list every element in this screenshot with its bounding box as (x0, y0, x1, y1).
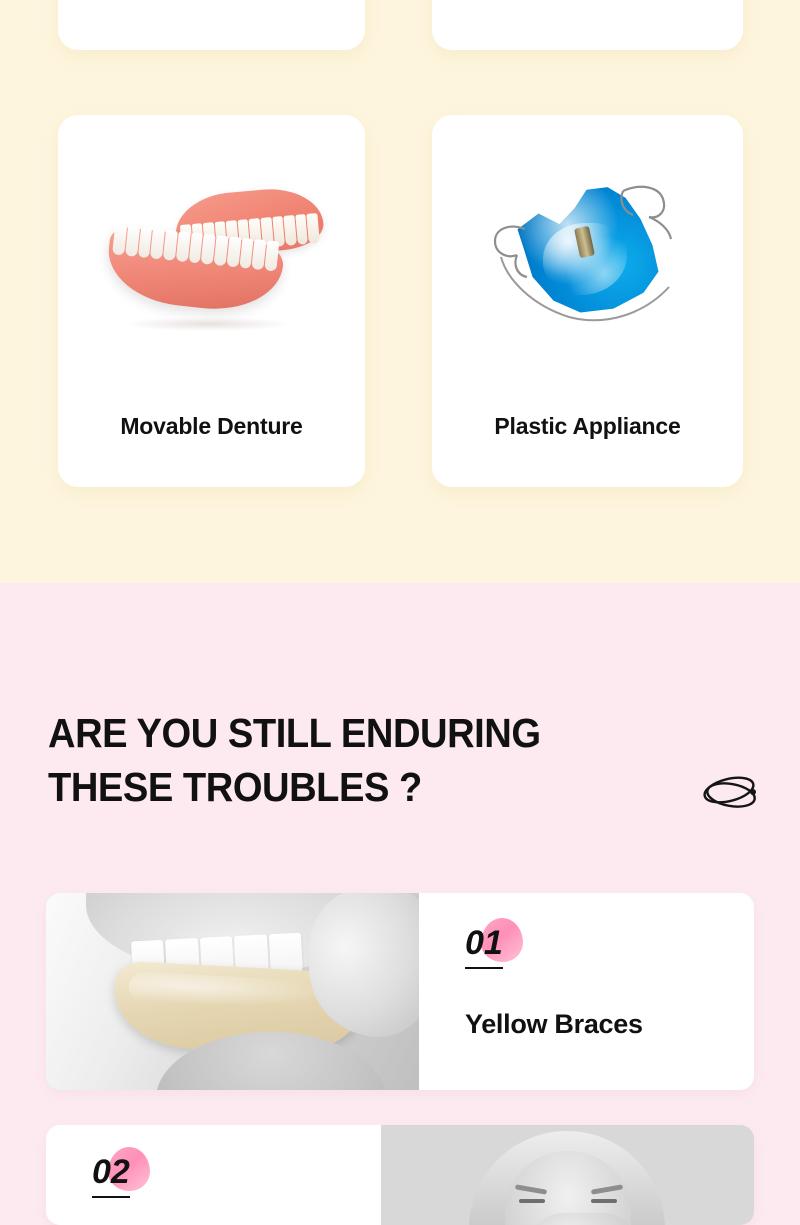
woman-pinching-nose-photo (381, 1125, 754, 1225)
product-card-caption: Movable Denture (58, 413, 365, 439)
eye-left (519, 1199, 545, 1203)
troubles-heading-line-2: THESE TROUBLES ? (48, 760, 643, 814)
denture-illustration (97, 183, 327, 333)
page-root: Invisible Braces Transparent Holder (0, 0, 800, 1225)
product-card-movable-denture[interactable]: Movable Denture (58, 115, 365, 487)
troubles-heading-line-1: ARE YOU STILL ENDURING (48, 706, 643, 760)
plastic-appliance-photo (432, 133, 743, 383)
product-card-label: Plastic Appliance (494, 413, 680, 439)
product-card-plastic-appliance[interactable]: Plastic Appliance (432, 115, 743, 487)
trouble-number-badge: 01 (465, 926, 503, 969)
yellowed-aligner-on-teeth-photo (46, 893, 419, 1090)
trouble-card-body: 01 Yellow Braces (419, 893, 754, 1090)
troubles-heading: ARE YOU STILL ENDURING THESE TROUBLES ? (48, 706, 643, 814)
trouble-number-badge: 02 (92, 1155, 130, 1198)
trouble-card-02[interactable]: 02 (46, 1125, 754, 1225)
product-card-label: Movable Denture (120, 413, 302, 439)
product-card-caption: Plastic Appliance (432, 413, 743, 439)
scribble-loop-icon (700, 768, 762, 816)
denture-shadow (123, 317, 293, 331)
product-card-label-highlight: Movable Denture (114, 413, 308, 439)
trouble-card-01[interactable]: 01 Yellow Braces (46, 893, 754, 1090)
product-card-invisible-braces[interactable]: Invisible Braces (58, 0, 365, 50)
trouble-card-body: 02 (46, 1125, 381, 1225)
product-card-transparent-holder[interactable]: Transparent Holder (432, 0, 743, 50)
movable-denture-photo (58, 133, 365, 383)
eye-right (591, 1199, 617, 1203)
appliance-illustration (473, 171, 703, 346)
product-card-label-highlight: Plastic Appliance (488, 413, 686, 439)
woman-photo-illustration (381, 1125, 754, 1225)
trouble-title: Yellow Braces (465, 1009, 643, 1040)
teeth-photo-illustration (46, 893, 419, 1090)
